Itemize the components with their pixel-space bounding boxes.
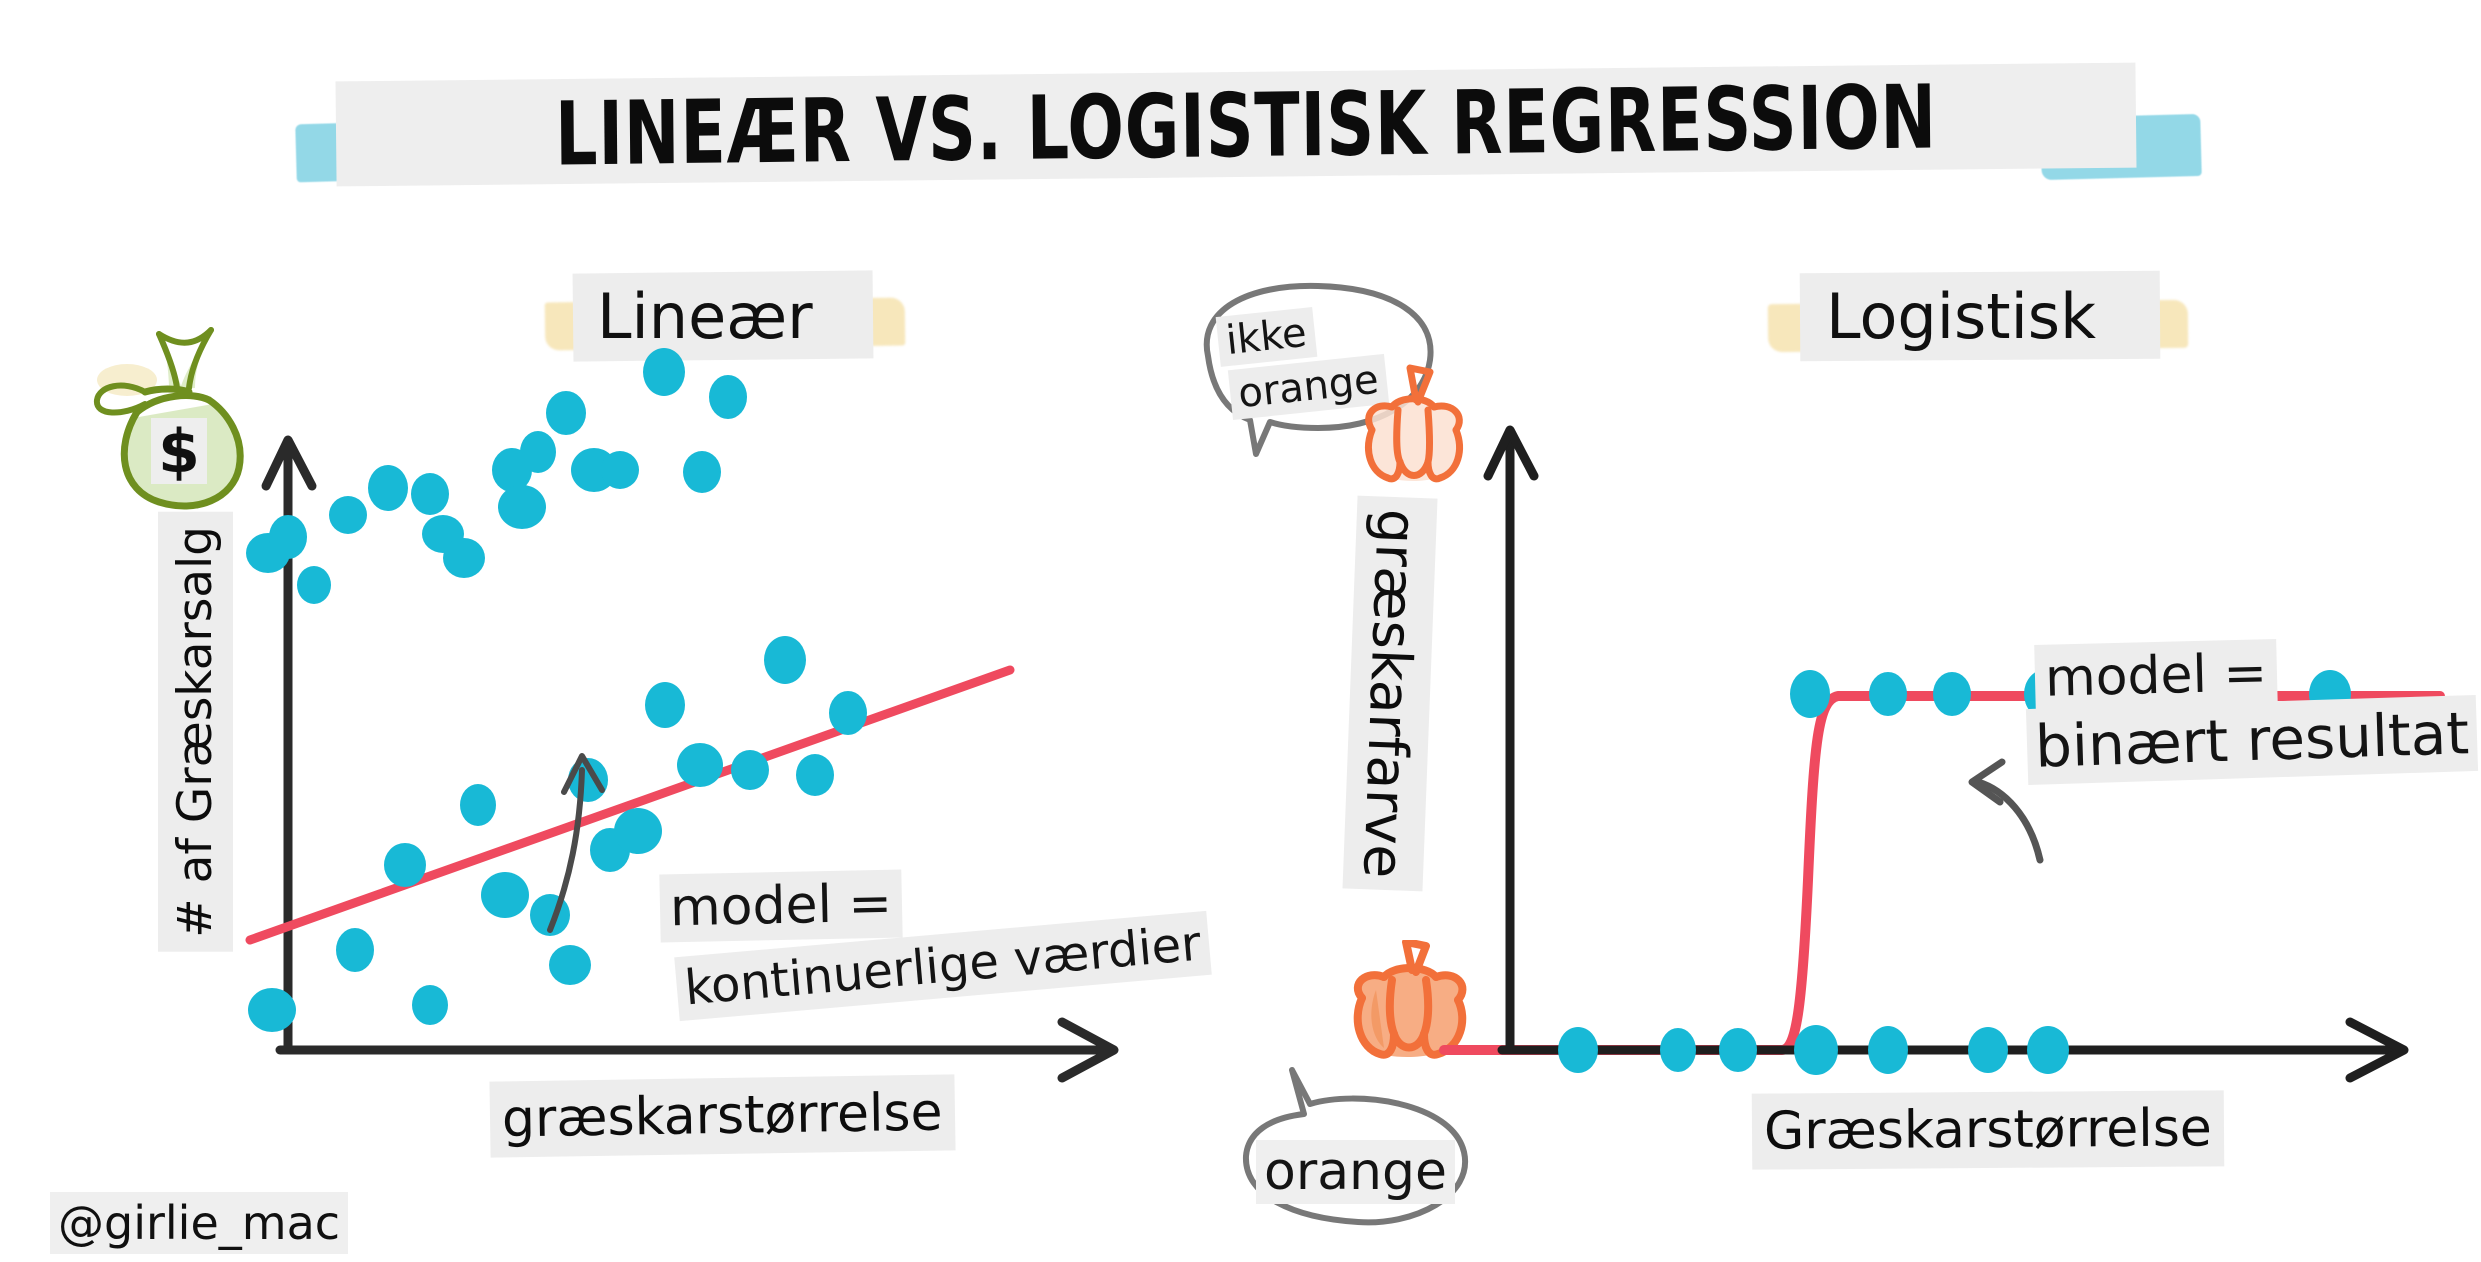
linear-heading-label: Lineær bbox=[597, 280, 813, 353]
infographic-canvas: LINEÆR VS. LOGISTISK REGRESSION Lineær $… bbox=[0, 0, 2481, 1262]
logistic-x-axis bbox=[1502, 1022, 2404, 1078]
page-title: LINEÆR VS. LOGISTISK REGRESSION bbox=[448, 64, 2045, 187]
linear-heading-group: Lineær bbox=[545, 272, 905, 368]
linear-x-axis bbox=[280, 1022, 1114, 1078]
svg-text:$: $ bbox=[158, 417, 200, 487]
page-title-group: LINEÆR VS. LOGISTISK REGRESSION bbox=[296, 72, 2196, 182]
speech-bubble-orange-line1: orange bbox=[1256, 1140, 1455, 1204]
author-credit: @girlie_mac bbox=[50, 1192, 348, 1254]
money-bag-icon: $ bbox=[85, 300, 275, 520]
speech-bubble-not-orange-line1: ikke bbox=[1216, 307, 1317, 367]
logistic-heading-group: Logistisk bbox=[1768, 272, 2188, 368]
logistic-model-annotation-line2: binært resultat bbox=[2026, 695, 2478, 785]
logistic-heading-label: Logistisk bbox=[1826, 280, 2096, 353]
logistic-x-axis-label: Græskarstørrelse bbox=[1752, 1090, 2224, 1169]
linear-model-annotation-line1: model = bbox=[659, 869, 902, 942]
logistic-y-axis bbox=[1488, 430, 1534, 1050]
linear-scatter-points bbox=[246, 348, 747, 604]
logistic-y-axis-label: græskarfarve bbox=[1342, 496, 1437, 892]
linear-y-axis-label: # af Græskarsalg bbox=[158, 512, 233, 952]
linear-x-axis-label: græskarstørrelse bbox=[489, 1074, 955, 1157]
